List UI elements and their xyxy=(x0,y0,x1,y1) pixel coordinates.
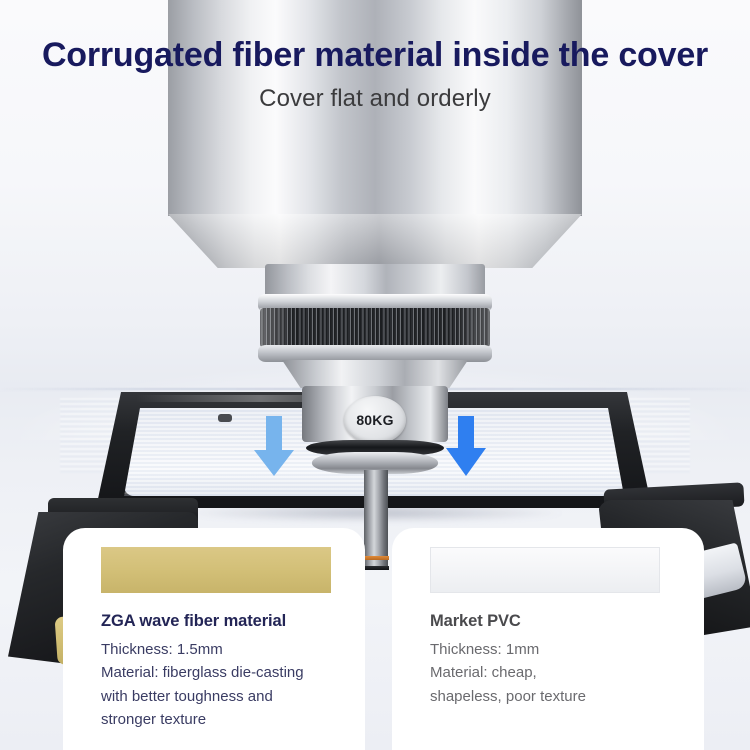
page-subtitle: Cover flat and orderly xyxy=(0,85,750,113)
info-line-material-3: stronger texture xyxy=(101,708,351,731)
ram-accent-band-dark xyxy=(363,566,389,570)
info-line-material-2: with better toughness and xyxy=(101,685,351,708)
info-card-body: Thickness: 1.5mm Material: fiberglass di… xyxy=(101,638,351,731)
info-card-pvc: Market PVC Thickness: 1mm Material: chea… xyxy=(392,528,704,750)
info-line-material-1: Material: fiberglass die-casting xyxy=(101,661,351,684)
press-taper xyxy=(282,360,468,388)
press-ram-shaft xyxy=(364,470,388,570)
info-line-material-1: Material: cheap, xyxy=(430,661,680,684)
press-chamfer xyxy=(168,214,582,268)
info-line-thickness: Thickness: 1mm xyxy=(430,638,680,661)
info-line-thickness: Thickness: 1.5mm xyxy=(101,638,351,661)
page-title: Corrugated fiber material inside the cov… xyxy=(0,36,750,75)
info-card-title: Market PVC xyxy=(430,612,521,631)
info-card-body: Thickness: 1mm Material: cheap, shapeles… xyxy=(430,638,680,708)
press-neck xyxy=(265,264,485,298)
press-ring-lower xyxy=(258,345,492,362)
product-feature-banner: Corrugated fiber material inside the cov… xyxy=(0,0,750,750)
knurled-collar-icon xyxy=(260,308,490,348)
info-line-material-2: shapeless, poor texture xyxy=(430,685,680,708)
info-card-zga: ZGA wave fiber material Thickness: 1.5mm… xyxy=(63,528,365,750)
pvc-swatch xyxy=(430,547,660,593)
ram-accent-band-orange xyxy=(363,556,389,560)
load-badge-label: 80KG xyxy=(356,412,393,428)
info-card-title: ZGA wave fiber material xyxy=(101,612,286,631)
gold-fiber-swatch xyxy=(101,547,331,593)
case-camera-notch xyxy=(218,414,232,422)
pressure-arrow-right-icon xyxy=(444,416,488,478)
load-badge: 80KG xyxy=(344,396,406,444)
pressure-arrow-left-icon xyxy=(252,416,296,478)
